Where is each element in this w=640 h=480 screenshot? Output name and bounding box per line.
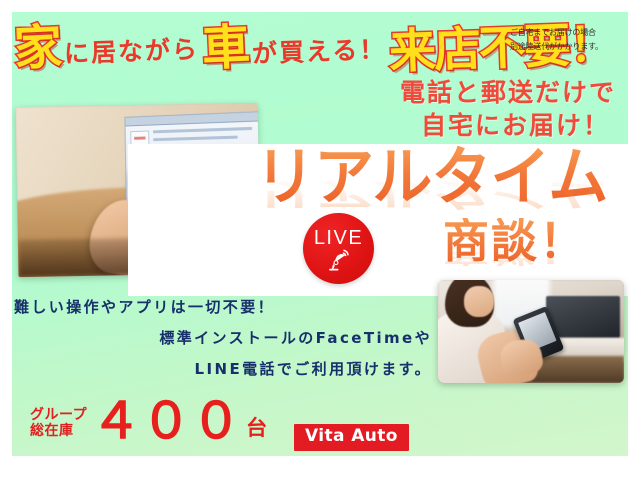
live-badge-label: LIVE [314,228,363,248]
headline-kanji-house: 家 [13,23,62,73]
red-subheadline-line-1: 電話と郵送だけで [400,76,616,109]
realtime-title-reflection: リアルタイム [255,177,607,210]
fineprint-line-1: ご自宅までお届けの場合 [510,26,622,40]
realtime-title-group: リアルタイム リアルタイム [255,146,635,224]
usage-note: 難しい操作やアプリは一切不要！ 標準インストールのFaceTimeや LINE電… [10,292,440,384]
usage-note-line-1: 難しい操作やアプリは一切不要！ [10,292,440,323]
stock-count-group: グループ 総在庫 ４００ 台 [30,396,267,446]
usage-note-line-2: 標準インストールのFaceTimeや [10,323,440,354]
stock-count-label: グループ 総在庫 [30,402,87,439]
headline-text-can-buy: が買える！ [252,37,387,67]
headline-kanji-car: 車 [201,23,250,73]
fineprint-delivery-note: ご自宅までお届けの場合 別途陸送代がかかります。 [510,26,622,53]
usage-note-line-3: LINE電話でご利用頂けます。 [10,354,440,385]
woman-smartphone-photo [438,280,624,383]
stock-label-line-2: 総在庫 [30,424,87,440]
live-badge: LIVE [303,213,374,284]
vita-auto-logo-text: Vita Auto [305,426,398,446]
shodan-title-group: 商談！ 商談！ [443,218,633,280]
stock-count-unit: 台 [245,412,267,446]
advertisement-banner: 家 に居ながら 車 が買える！ 来店不要！ ご自宅までお届けの場合 別途陸送代が… [0,0,640,480]
red-subheadline: 電話と郵送だけで 自宅にお届け！ [400,76,616,142]
fineprint-line-2: 別途陸送代がかかります。 [510,40,622,54]
headline-text-while-at-home: に居ながら [64,37,200,67]
red-subheadline-line-2: 自宅にお届け！ [400,109,616,142]
photo-woman-face [464,286,494,317]
stock-label-line-1: グループ [30,408,87,424]
shodan-title-reflection: 商談！ [443,243,587,266]
satellite-dish-icon [327,249,351,271]
vita-auto-logo: Vita Auto [294,424,409,451]
stock-count-number: ４００ [91,396,241,446]
